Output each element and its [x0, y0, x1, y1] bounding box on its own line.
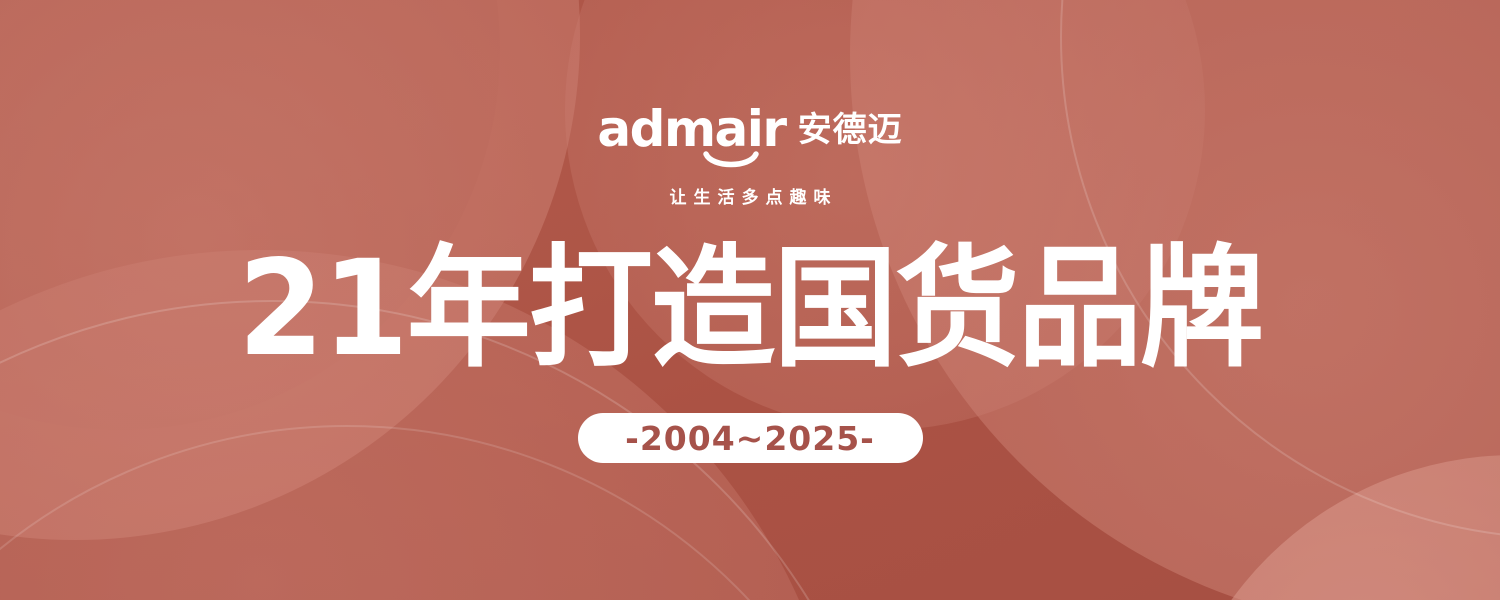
logo-row: admair 安德迈: [597, 104, 902, 154]
badge-container: -2004~2025-: [0, 413, 1500, 463]
smile-arc-icon: [703, 151, 759, 171]
brand-chinese-name: 安德迈: [798, 113, 903, 147]
year-range-badge: -2004~2025-: [578, 413, 923, 463]
brand-tagline: 让生活多点趣味: [663, 190, 838, 207]
brand-wordmark-text: admair: [597, 104, 785, 154]
promo-banner: admair 安德迈 让生活多点趣味 21年打造国货品牌 -2004~2025-: [0, 0, 1500, 600]
headline-text: 21年打造国货品牌: [45, 243, 1455, 375]
banner-content: admair 安德迈 让生活多点趣味 21年打造国货品牌 -2004~2025-: [0, 0, 1500, 600]
brand-wordmark: admair: [597, 104, 785, 154]
brand-logo-lockup: admair 安德迈 让生活多点趣味: [0, 104, 1500, 207]
